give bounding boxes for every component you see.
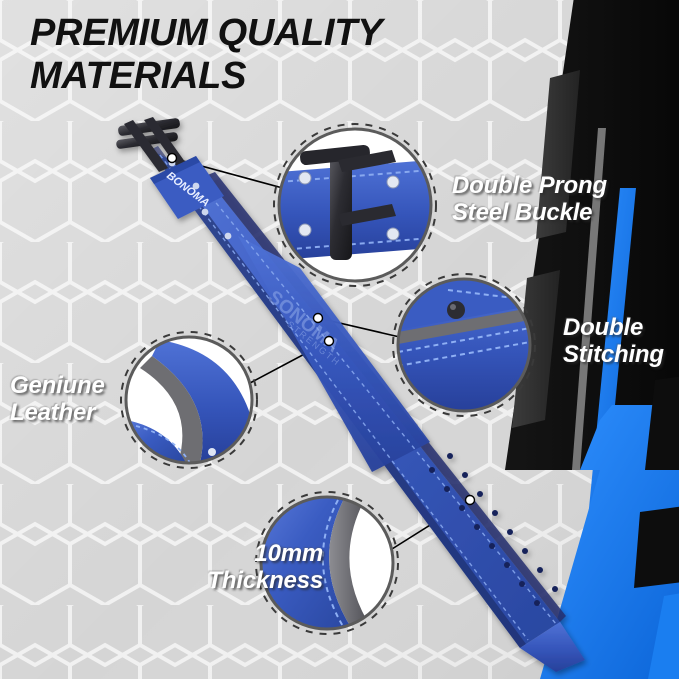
callout-line-1: Double Prong xyxy=(452,173,607,200)
callout-line-2: Stitching xyxy=(563,342,664,369)
headline-line-2: MATERIALS xyxy=(30,55,460,98)
callout-label-geniune-leather: Geniune Leather xyxy=(10,373,105,427)
headline-line-1: PREMIUM QUALITY xyxy=(30,12,382,54)
detail-circle-buckle xyxy=(274,124,436,286)
callout-line-2: Thickness xyxy=(163,568,323,595)
callout-line-1: 10mm xyxy=(163,541,323,568)
infographic-canvas: BONOMA SONOMA STRENGTH xyxy=(0,0,679,679)
page-title: PREMIUM QUALITY MATERIALS xyxy=(30,12,460,99)
callout-label-10mm-thickness: 10mm Thickness xyxy=(163,541,323,595)
callout-line-2: Steel Buckle xyxy=(452,200,607,227)
callout-label-double-stitching: Double Stitching xyxy=(563,315,664,369)
callout-line-1: Double xyxy=(563,315,664,342)
callout-line-1: Geniune xyxy=(10,373,105,400)
detail-circle-stitching xyxy=(393,274,535,416)
callout-line-2: Leather xyxy=(10,400,105,427)
detail-circle-leather xyxy=(121,332,257,468)
callout-label-double-prong-steel-buckle: Double Prong Steel Buckle xyxy=(452,173,607,227)
belt-buckle xyxy=(116,117,188,172)
